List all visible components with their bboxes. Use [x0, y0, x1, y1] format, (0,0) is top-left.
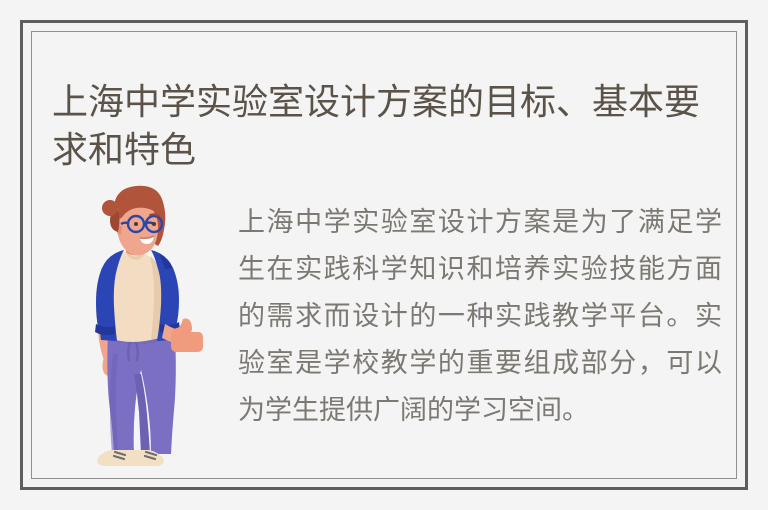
card-outer-frame: 上海中学实验室设计方案的目标、基本要求和特色	[20, 20, 748, 490]
right-eye	[152, 222, 156, 226]
hair-bun	[102, 200, 118, 216]
page-root: 上海中学实验室设计方案的目标、基本要求和特色	[0, 0, 768, 510]
card-inner-frame: 上海中学实验室设计方案的目标、基本要求和特色	[31, 31, 737, 479]
standing-person-illustration	[70, 182, 220, 472]
article-title: 上海中学实验室设计方案的目标、基本要求和特色	[52, 78, 712, 174]
article-content-row: 上海中学实验室设计方案是为了满足学生在实践科学知识和培养实验技能方面的需求而设计…	[32, 172, 736, 472]
article-body: 上海中学实验室设计方案是为了满足学生在实践科学知识和培养实验技能方面的需求而设计…	[238, 199, 722, 434]
illustration-figure	[70, 182, 220, 472]
left-eye	[134, 222, 138, 226]
